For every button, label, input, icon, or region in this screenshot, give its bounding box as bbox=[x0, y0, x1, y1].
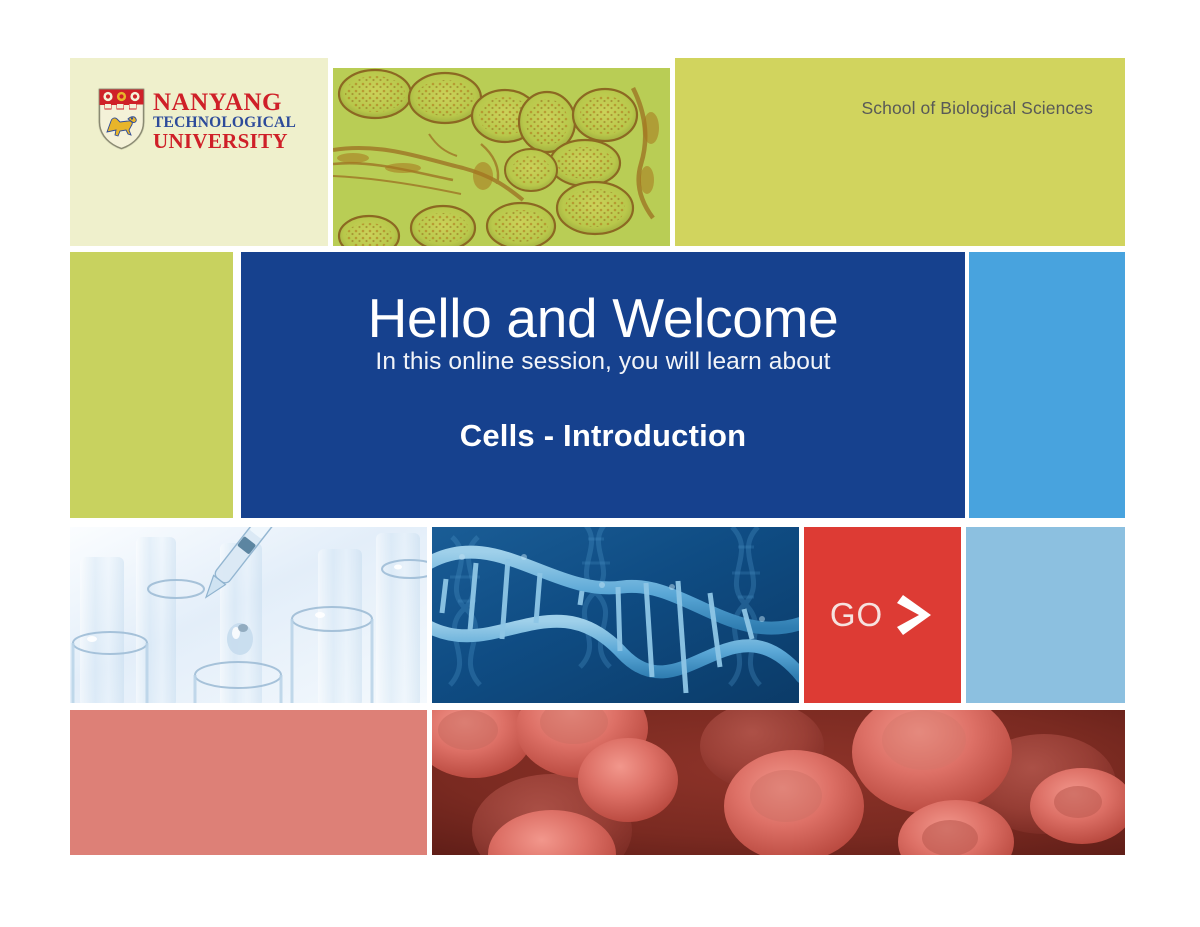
go-button-label: GO bbox=[830, 596, 883, 634]
chevron-right-icon bbox=[897, 593, 935, 637]
page-subtitle: In this online session, you will learn a… bbox=[241, 348, 965, 376]
salmon-accent-block bbox=[70, 710, 427, 855]
hero-panel: Hello and Welcome In this online session… bbox=[241, 252, 965, 518]
ntu-logo: NANYANG TECHNOLOGICAL UNIVERSITY bbox=[98, 88, 296, 152]
light-blue-accent-block bbox=[966, 527, 1125, 703]
blue-accent-block-right bbox=[969, 252, 1125, 518]
university-logo-tile: NANYANG TECHNOLOGICAL UNIVERSITY bbox=[70, 58, 328, 246]
green-accent-block-left bbox=[70, 252, 233, 518]
school-name-tile: School of Biological Sciences bbox=[675, 58, 1125, 246]
school-name-label: School of Biological Sciences bbox=[861, 98, 1093, 119]
page-title: Hello and Welcome bbox=[241, 290, 965, 346]
logo-line-nanyang: NANYANG bbox=[153, 90, 296, 115]
title-slide: NANYANG TECHNOLOGICAL UNIVERSITY bbox=[0, 0, 1200, 927]
red-blood-cells-image bbox=[432, 710, 1125, 855]
pipette-test-tubes-image bbox=[70, 527, 427, 703]
ntu-crest-icon bbox=[98, 88, 145, 150]
go-button[interactable]: GO bbox=[804, 527, 961, 703]
topic-title: Cells - Introduction bbox=[241, 418, 965, 454]
histology-micrograph-image bbox=[333, 68, 670, 246]
logo-line-university: UNIVERSITY bbox=[153, 131, 296, 152]
dna-double-helix-image bbox=[432, 527, 799, 703]
